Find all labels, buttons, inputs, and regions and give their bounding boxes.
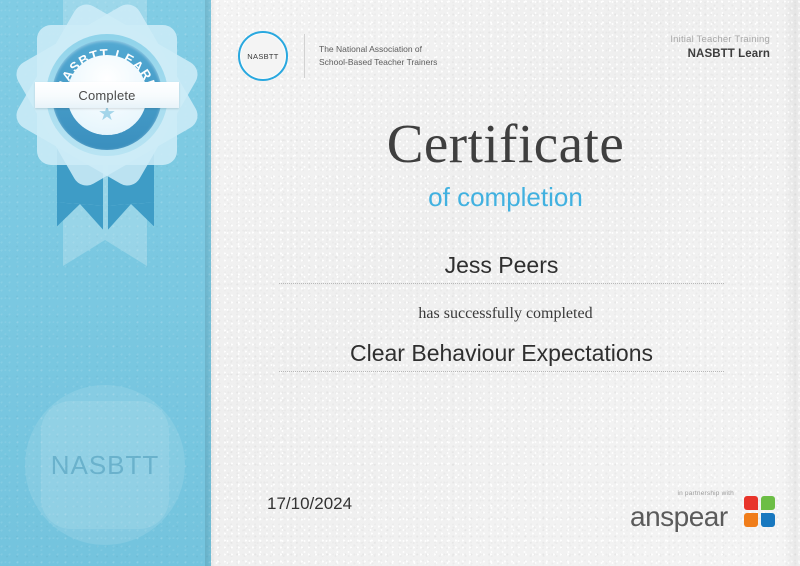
certificate-body: Certificate of completion Jess Peers has…	[211, 0, 800, 566]
left-sidebar: NASBTT LEARN TEACHER TRAINING ★ Complete	[0, 0, 211, 566]
recipient-name: Jess Peers	[445, 252, 559, 283]
certificate-page: NASBTT LEARN TEACHER TRAINING ★ Complete	[0, 0, 800, 566]
watermark-label: NASBTT	[25, 385, 185, 545]
partner-kicker: in partnership with	[677, 490, 734, 497]
petal-bottom-left	[744, 513, 758, 527]
partner-logo: in partnership with anspear	[630, 490, 776, 540]
petal-bottom-right	[761, 513, 775, 527]
anspear-petal-icon	[744, 496, 776, 528]
completion-statement: has successfully completed	[211, 305, 800, 323]
completion-badge: NASBTT LEARN TEACHER TRAINING ★ Complete	[37, 25, 177, 165]
course-field: Clear Behaviour Expectations	[279, 340, 724, 372]
course-name: Clear Behaviour Expectations	[350, 340, 653, 371]
petal-top-left	[744, 496, 758, 510]
badge-complete-banner: Complete	[35, 82, 179, 108]
page-title: Certificate	[211, 112, 800, 175]
recipient-field: Jess Peers	[279, 252, 724, 284]
course-dotted-line	[279, 371, 724, 372]
recipient-dotted-line	[279, 283, 724, 284]
badge-complete-label: Complete	[78, 88, 135, 103]
petal-top-right	[761, 496, 775, 510]
partner-name: anspear	[630, 501, 728, 533]
issue-date: 17/10/2024	[267, 494, 352, 514]
sidebar-watermark: NASBTT	[25, 385, 185, 545]
page-subtitle: of completion	[211, 182, 800, 213]
